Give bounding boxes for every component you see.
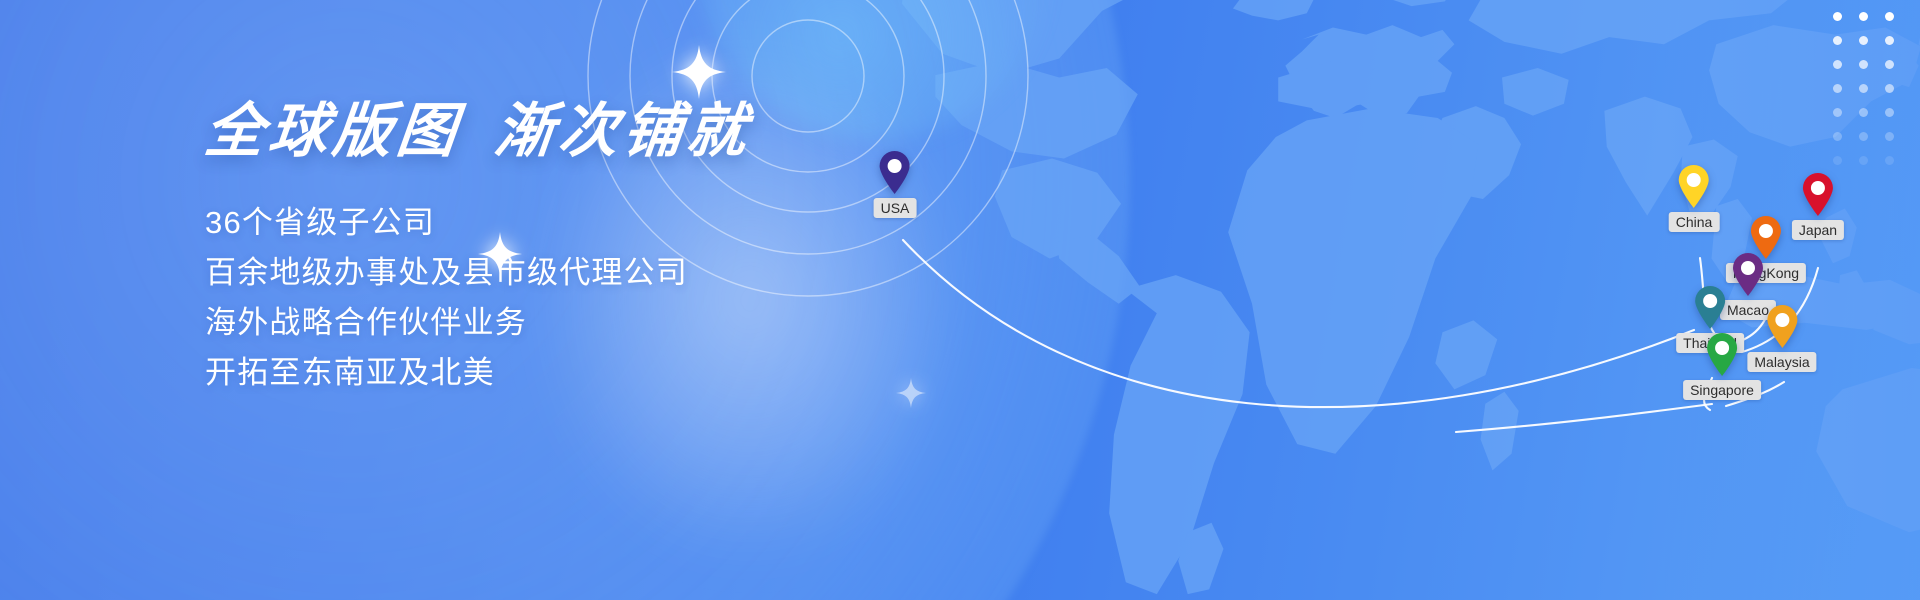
dot-grid-dot	[1833, 60, 1842, 69]
dot-grid-row	[1833, 132, 1894, 141]
dot-grid-dot	[1833, 108, 1842, 117]
dot-grid-dot	[1885, 36, 1894, 45]
marker-label: USA	[874, 198, 917, 218]
dot-grid-dot	[1833, 156, 1842, 165]
highlight-list: 36个省级子公司 百余地级办事处及县市级代理公司 海外战略合作伙伴业务 开拓至东…	[205, 198, 965, 398]
copy-block: 全球版图渐次铺就 36个省级子公司 百余地级办事处及县市级代理公司 海外战略合作…	[205, 98, 965, 398]
list-item: 开拓至东南亚及北美	[205, 348, 965, 398]
dot-grid-dot	[1833, 12, 1842, 21]
dot-grid-dot	[1859, 36, 1868, 45]
map-pin-icon	[1693, 286, 1727, 330]
map-marker-usa[interactable]: USA	[874, 151, 917, 218]
list-item: 海外战略合作伙伴业务	[205, 298, 965, 348]
dot-grid-dot	[1885, 132, 1894, 141]
dot-grid-row	[1833, 156, 1894, 165]
map-pin-icon	[1765, 305, 1799, 349]
map-pin-icon	[878, 151, 912, 195]
marker-label: China	[1669, 212, 1720, 232]
dot-grid-decoration	[1833, 12, 1894, 180]
map-marker-china[interactable]: China	[1669, 165, 1720, 232]
headline-part-1: 全球版图	[202, 98, 465, 164]
map-pin-icon	[1705, 333, 1739, 377]
global-map-banner: 全球版图渐次铺就 36个省级子公司 百余地级办事处及县市级代理公司 海外战略合作…	[0, 0, 1920, 600]
dot-grid-dot	[1859, 12, 1868, 21]
dot-grid-row	[1833, 12, 1894, 21]
dot-grid-row	[1833, 108, 1894, 117]
dot-grid-row	[1833, 36, 1894, 45]
dot-grid-dot	[1833, 36, 1842, 45]
dot-grid-dot	[1859, 156, 1868, 165]
dot-grid-dot	[1885, 156, 1894, 165]
dot-grid-dot	[1885, 12, 1894, 21]
dot-grid-dot	[1859, 84, 1868, 93]
dot-grid-row	[1833, 60, 1894, 69]
map-pin-icon	[1801, 173, 1835, 217]
list-item: 百余地级办事处及县市级代理公司	[205, 248, 965, 298]
page-title: 全球版图渐次铺就	[202, 98, 969, 164]
dot-grid-dot	[1859, 132, 1868, 141]
marker-label: Singapore	[1683, 380, 1761, 400]
dot-grid-dot	[1885, 108, 1894, 117]
dot-grid-dot	[1885, 60, 1894, 69]
dot-grid-dot	[1859, 60, 1868, 69]
dot-grid-dot	[1885, 84, 1894, 93]
dot-grid-dot	[1833, 84, 1842, 93]
dot-grid-dot	[1859, 108, 1868, 117]
dot-grid-dot	[1833, 132, 1842, 141]
dot-grid-row	[1833, 84, 1894, 93]
map-pin-icon	[1677, 165, 1711, 209]
headline-part-2: 渐次铺就	[492, 98, 755, 164]
list-item: 36个省级子公司	[205, 198, 965, 248]
map-marker-singapore[interactable]: Singapore	[1683, 333, 1761, 400]
